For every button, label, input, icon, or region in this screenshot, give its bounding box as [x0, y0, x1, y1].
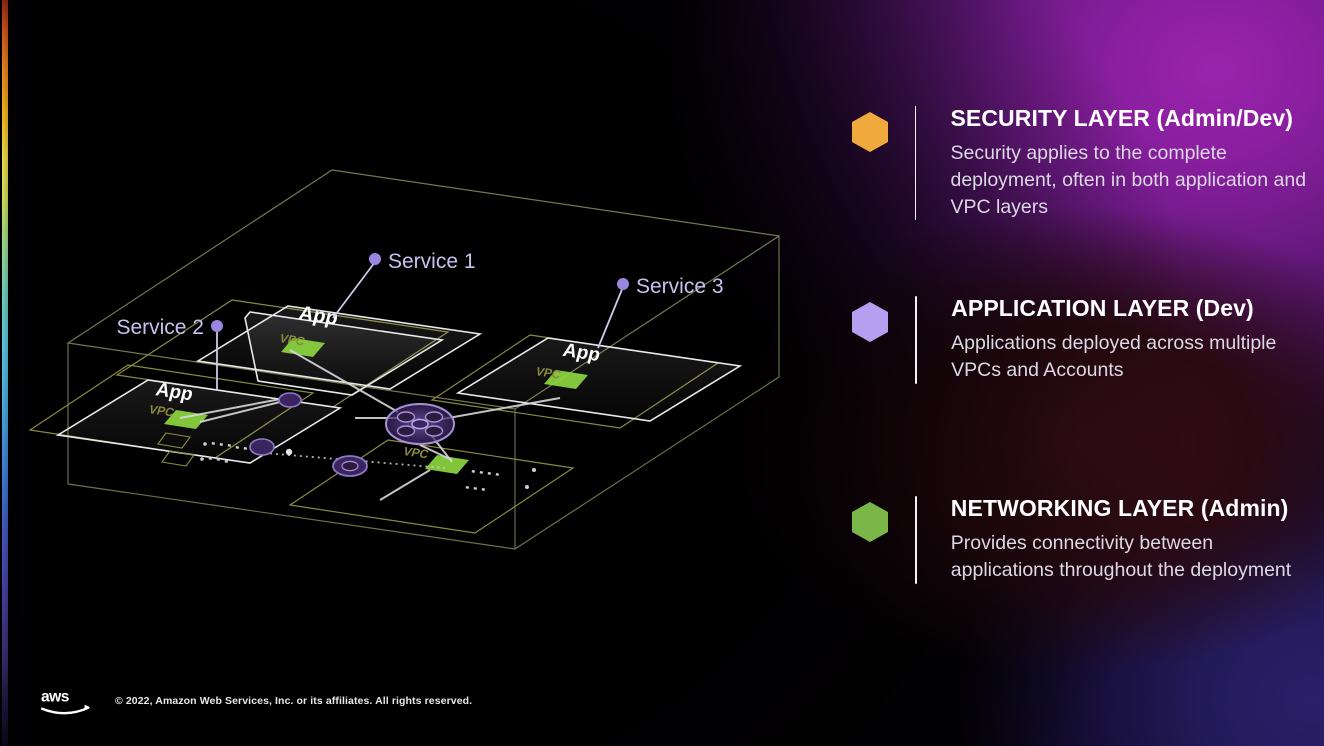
callout-label: Service 1 — [388, 250, 476, 273]
svg-text:aws: aws — [41, 688, 70, 705]
callout-label: Service 2 — [116, 316, 204, 339]
legend-description: Provides connectivity between applicatio… — [951, 530, 1314, 584]
vpc-plane-4 — [290, 440, 573, 533]
legend-title: SECURITY LAYER (Admin/Dev) — [950, 106, 1314, 132]
networking-hexagon-icon — [852, 502, 888, 542]
callout-label: Service 3 — [636, 275, 724, 298]
transit-gateway-icon — [386, 404, 454, 444]
aws-logo-icon: aws — [40, 684, 92, 720]
gateway-node — [250, 439, 274, 455]
legend-text-group: NETWORKING LAYER (Admin) Provides connec… — [951, 496, 1314, 584]
legend-text-group: SECURITY LAYER (Admin/Dev) Security appl… — [950, 106, 1314, 220]
subnet-dot-rows-right — [466, 468, 536, 491]
legend-rule — [915, 106, 916, 220]
legend-rule — [915, 496, 917, 584]
callout-service-3: Service 3 — [598, 275, 724, 348]
application-hexagon-icon — [852, 302, 888, 342]
app-plane-service-1: App — [198, 303, 480, 395]
legend-rule — [915, 296, 917, 384]
callout-dot — [617, 278, 629, 290]
legend-item-networking: NETWORKING LAYER (Admin) Provides connec… — [852, 496, 1314, 584]
legend-panel: SECURITY LAYER (Admin/Dev) Security appl… — [852, 0, 1314, 700]
slide-root: App App App VPC VPC VPC VPC — [0, 0, 1324, 746]
endpoint-dot — [286, 449, 292, 455]
legend-title: NETWORKING LAYER (Admin) — [951, 496, 1314, 522]
slide-footer: aws © 2022, Amazon Web Services, Inc. or… — [0, 676, 1324, 746]
legend-text-group: APPLICATION LAYER (Dev) Applications dep… — [951, 296, 1314, 384]
copyright-text: © 2022, Amazon Web Services, Inc. or its… — [115, 695, 472, 707]
callout-service-1: Service 1 — [333, 250, 476, 318]
security-hexagon-icon — [852, 112, 888, 152]
callout-dot — [369, 253, 381, 265]
legend-item-application: APPLICATION LAYER (Dev) Applications dep… — [852, 296, 1314, 384]
architecture-diagram: App App App VPC VPC VPC VPC — [0, 0, 840, 640]
legend-description: Applications deployed across multiple VP… — [951, 330, 1314, 384]
legend-title: APPLICATION LAYER (Dev) — [951, 296, 1314, 322]
legend-item-security: SECURITY LAYER (Admin/Dev) Security appl… — [852, 106, 1314, 220]
legend-description: Security applies to the complete deploym… — [950, 140, 1314, 221]
callout-dot — [211, 320, 223, 332]
gateway-node — [279, 393, 301, 407]
